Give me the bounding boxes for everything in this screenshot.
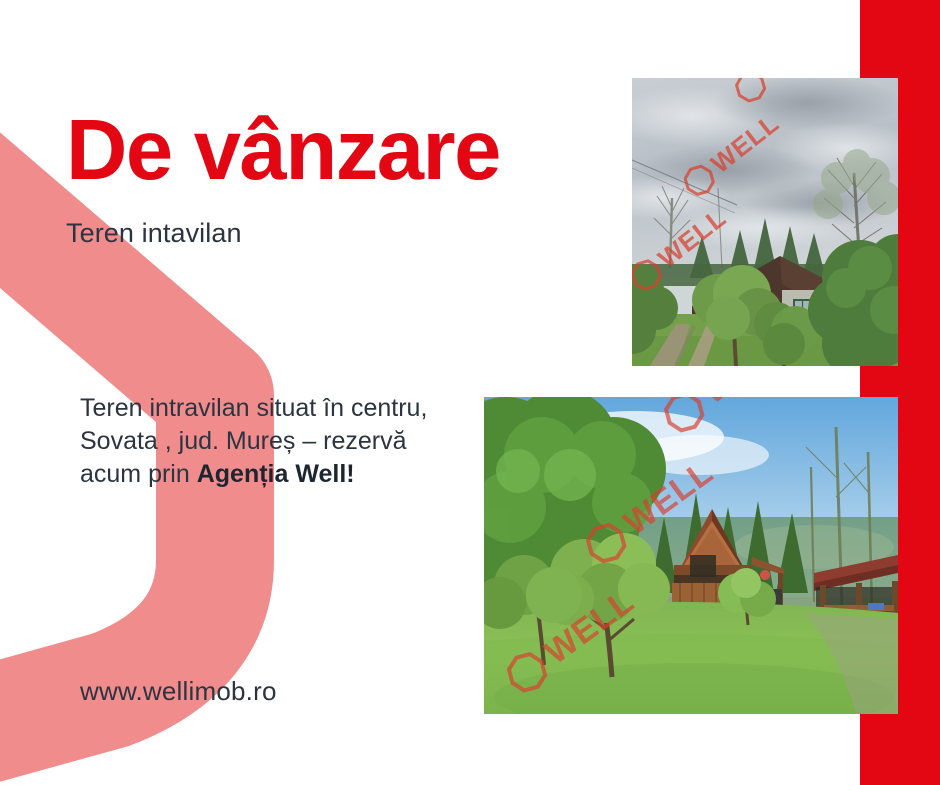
description-text: Teren intravilan situat în centru, Sovat… <box>80 392 432 490</box>
property-photo-bottom: WELL WELL WELL <box>484 397 898 714</box>
description-emphasis: Agenția Well! <box>197 460 355 488</box>
property-photo-top: WELL WELL WELL <box>632 78 898 366</box>
page-title: De vânzare <box>66 108 686 193</box>
website-url: www.wellimob.ro <box>80 676 277 707</box>
page-subtitle: Teren intavilan <box>66 218 242 249</box>
poster-canvas: De vânzare Teren intavilan Teren intravi… <box>0 0 940 785</box>
